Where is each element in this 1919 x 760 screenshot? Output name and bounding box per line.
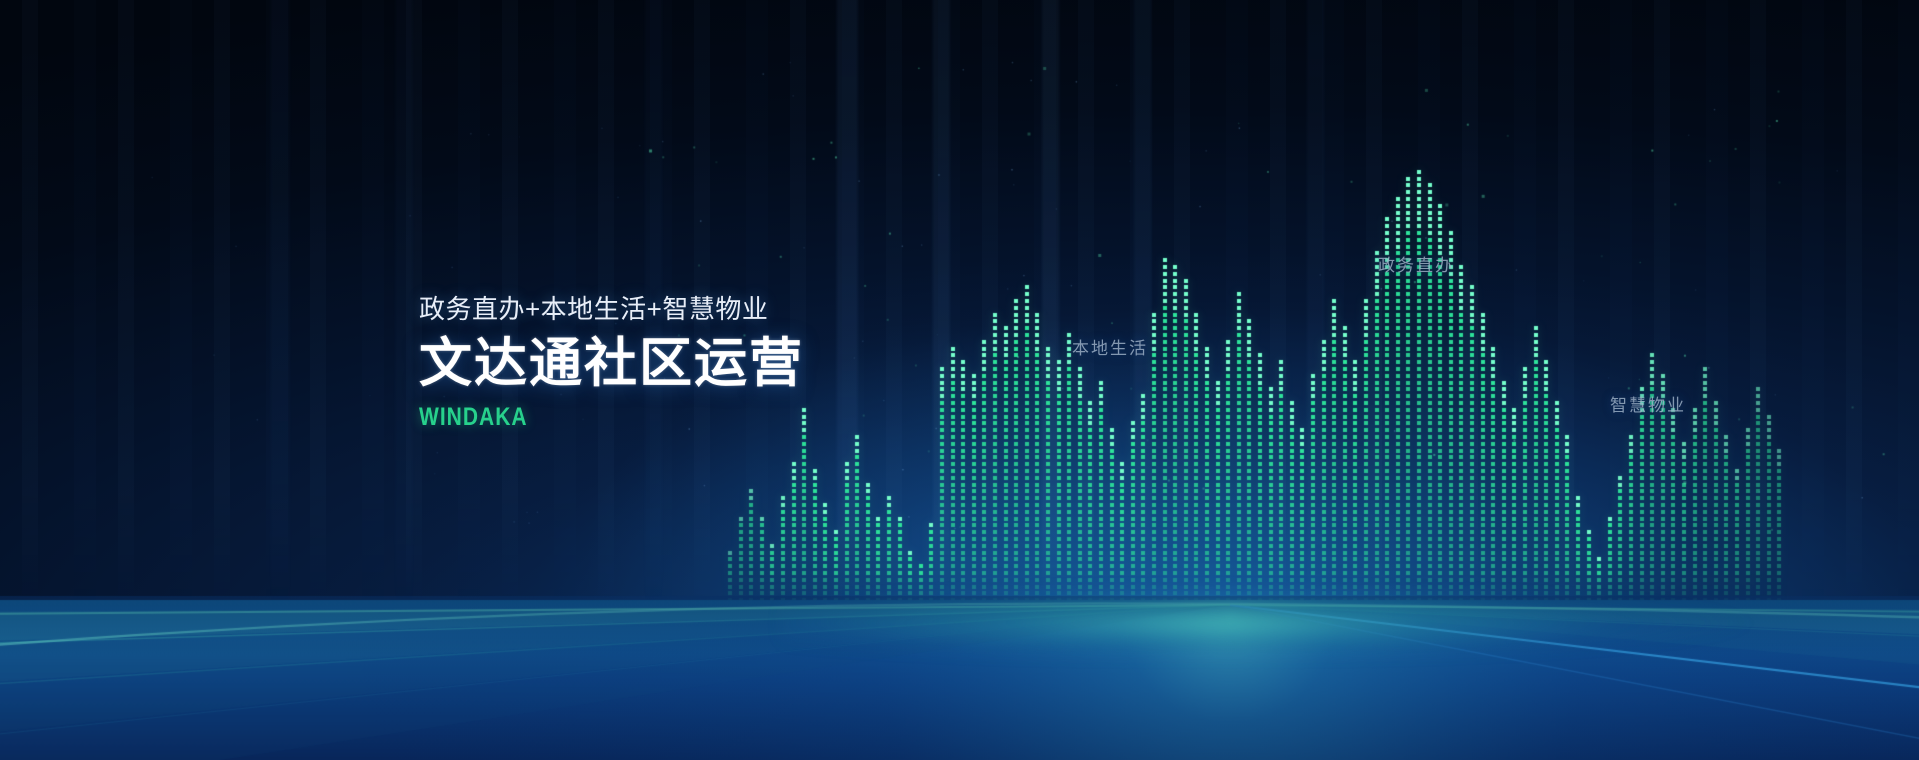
category-label-government-service: 政务直办 — [1378, 256, 1454, 276]
banner-headline: 文达通社区运营 — [419, 334, 939, 394]
dotted-bar-skyline-chart — [0, 0, 1919, 640]
brand-wordmark: WINDAKA — [419, 404, 856, 430]
banner-subtitle: 政务直办+本地生活+智慧物业 — [419, 292, 939, 326]
category-label-smart-property: 智慧物业 — [1610, 396, 1686, 416]
category-label-local-life: 本地生活 — [1072, 339, 1148, 359]
headline-text-block: 政务直办+本地生活+智慧物业 文达通社区运营 WINDAKA — [419, 292, 939, 430]
perspective-floor — [0, 560, 1919, 760]
hero-banner: 政务直办+本地生活+智慧物业 文达通社区运营 WINDAKA 本地生活 政务直办… — [0, 0, 1919, 760]
